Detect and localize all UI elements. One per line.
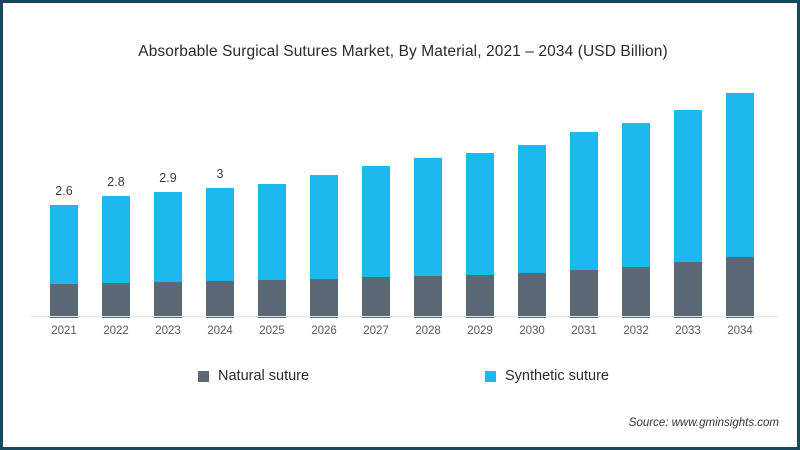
x-axis-tick-2027: 2027 [350,325,402,337]
source-note: Source: www.gminsights.com [629,417,779,429]
bar-segment-synthetic-2031[interactable] [570,132,598,270]
bar-segment-synthetic-2028[interactable] [414,158,442,276]
bar-segment-synthetic-2030[interactable] [518,145,546,273]
legend-item-natural-suture[interactable]: Natural suture [198,368,309,384]
bar-segment-synthetic-2027[interactable] [362,166,390,277]
x-axis-tick-2025: 2025 [246,325,298,337]
bar-stack [518,145,546,318]
bar-stack [206,188,234,318]
bar-stack [570,132,598,318]
bar-value-label-2024: 3 [194,167,246,181]
legend-label-natural: Natural suture [218,368,309,384]
bar-stack [466,153,494,318]
x-axis-tick-2028: 2028 [402,325,454,337]
chart-card: Absorbable Surgical Sutures Market, By M… [0,0,800,450]
legend-swatch-icon-natural [198,371,209,382]
x-axis-tick-2024: 2024 [194,325,246,337]
chart-title: Absorbable Surgical Sutures Market, By M… [3,43,800,61]
bar-stack [362,166,390,318]
bar-stack [258,184,286,318]
bar-stack [674,110,702,318]
bar-stack [50,205,78,318]
x-axis-tick-2034: 2034 [714,325,766,337]
x-axis-tick-2026: 2026 [298,325,350,337]
bar-segment-synthetic-2032[interactable] [622,123,650,267]
x-axis-tick-2022: 2022 [90,325,142,337]
legend-item-synthetic-suture[interactable]: Synthetic suture [485,368,609,384]
bar-value-label-2023: 2.9 [142,171,194,185]
bar-segment-natural-2032[interactable] [622,267,650,318]
bar-segment-natural-2021[interactable] [50,284,78,318]
bar-segment-synthetic-2025[interactable] [258,184,286,280]
x-axis-tick-2030: 2030 [506,325,558,337]
bar-stack [414,158,442,318]
legend-swatch-icon-synthetic [485,371,496,382]
bar-segment-synthetic-2021[interactable] [50,205,78,284]
bar-stack [726,93,754,318]
bar-segment-synthetic-2026[interactable] [310,175,338,279]
bar-segment-natural-2029[interactable] [466,275,494,318]
bar-segment-natural-2024[interactable] [206,281,234,318]
bar-segment-natural-2026[interactable] [310,279,338,318]
bar-segment-synthetic-2022[interactable] [102,196,130,283]
bar-segment-synthetic-2033[interactable] [674,110,702,262]
bar-segment-natural-2028[interactable] [414,276,442,318]
bar-segment-natural-2033[interactable] [674,262,702,318]
chart-legend: Natural suture Synthetic suture [3,368,800,392]
x-axis-tick-2029: 2029 [454,325,506,337]
axis-baseline [31,316,779,317]
bar-value-label-2022: 2.8 [90,175,142,189]
legend-label-synthetic: Synthetic suture [505,368,609,384]
bar-segment-natural-2025[interactable] [258,280,286,318]
bar-value-label-2021: 2.6 [38,184,90,198]
bar-segment-natural-2027[interactable] [362,277,390,318]
x-axis-tick-2033: 2033 [662,325,714,337]
x-axis-tick-2021: 2021 [38,325,90,337]
bar-segment-natural-2034[interactable] [726,257,754,318]
plot-area: 2.62.82.93 [31,78,775,318]
bar-segment-natural-2022[interactable] [102,283,130,318]
bar-stack [622,123,650,318]
bar-segment-synthetic-2029[interactable] [466,153,494,275]
x-axis-tick-2032: 2032 [610,325,662,337]
bar-segment-natural-2023[interactable] [154,282,182,318]
x-axis-tick-2031: 2031 [558,325,610,337]
bar-stack [310,175,338,318]
bar-segment-synthetic-2034[interactable] [726,93,754,257]
x-axis-tick-2023: 2023 [142,325,194,337]
bar-stack [102,196,130,318]
bar-segment-natural-2030[interactable] [518,273,546,318]
bar-segment-natural-2031[interactable] [570,270,598,318]
bar-segment-synthetic-2024[interactable] [206,188,234,281]
bar-stack [154,192,182,318]
bar-segment-synthetic-2023[interactable] [154,192,182,282]
